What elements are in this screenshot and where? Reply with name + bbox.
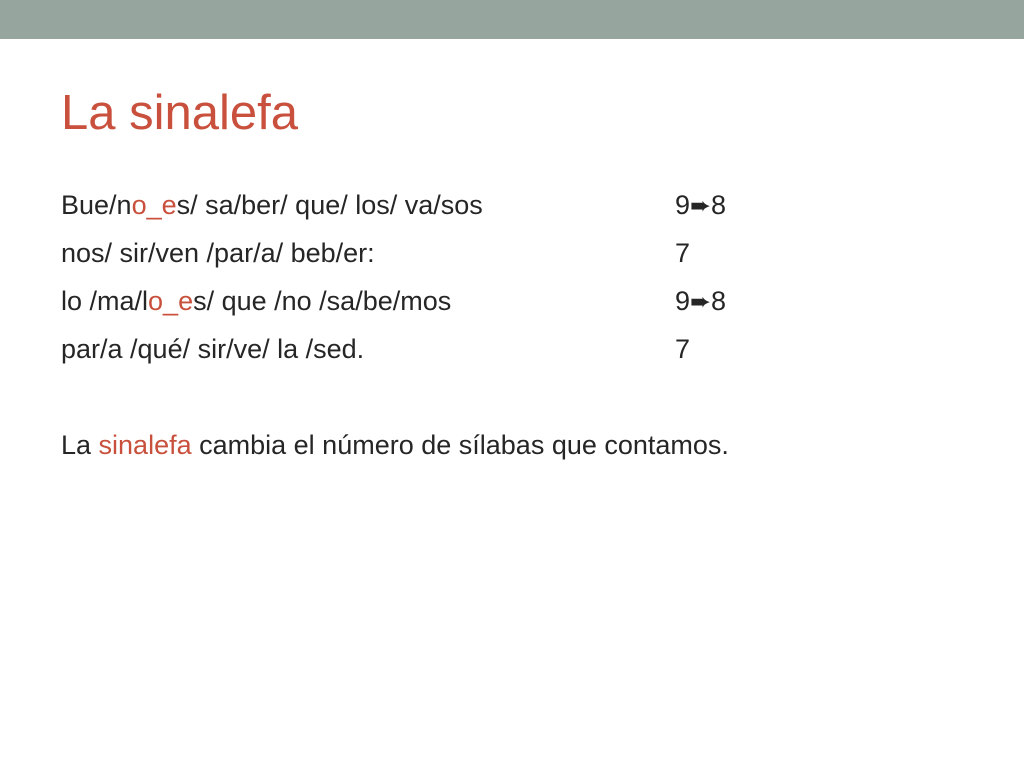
count-after: 8 [711, 190, 726, 220]
verse-segment-plain: Bue/n [61, 190, 132, 220]
count-after: 8 [711, 286, 726, 316]
slide: La sinalefa Bue/no_es/ sa/ber/ que/ los/… [0, 0, 1024, 768]
slide-body: Bue/no_es/ sa/ber/ que/ los/ va/sos 9➨8 … [61, 188, 961, 462]
verse-segment-highlight: o_e [132, 190, 177, 220]
verse-segment-plain: nos/ sir/ven /par/a/ beb/er: [61, 238, 375, 268]
summary-term-highlight: sinalefa [99, 430, 192, 460]
verse-text: par/a /qué/ sir/ve/ la /sed. [61, 332, 364, 366]
slide-top-accent-bar [0, 0, 1024, 39]
verse-line: par/a /qué/ sir/ve/ la /sed. 7 [61, 332, 961, 380]
count-before: 9 [675, 190, 690, 220]
syllable-count: 7 [675, 236, 690, 271]
page-title: La sinalefa [61, 84, 298, 142]
verse-text: Bue/no_es/ sa/ber/ que/ los/ va/sos [61, 188, 483, 222]
blank-line [61, 380, 961, 428]
verse-segment-plain: lo /ma/l [61, 286, 148, 316]
count-before: 9 [675, 286, 690, 316]
verse-text: nos/ sir/ven /par/a/ beb/er: [61, 236, 375, 270]
summary-prefix: La [61, 430, 99, 460]
verse-line: nos/ sir/ven /par/a/ beb/er: 7 [61, 236, 961, 284]
verse-segment-highlight: o_e [148, 286, 193, 316]
verse-text: lo /ma/lo_es/ que /no /sa/be/mos [61, 284, 451, 318]
verse-segment-plain: s/ que /no /sa/be/mos [193, 286, 451, 316]
verse-segment-plain: par/a /qué/ sir/ve/ la /sed. [61, 334, 364, 364]
count-before: 7 [675, 238, 690, 268]
count-before: 7 [675, 334, 690, 364]
verse-line: lo /ma/lo_es/ que /no /sa/be/mos 9➨8 [61, 284, 961, 332]
syllable-count: 9➨8 [675, 188, 726, 223]
arrow-right-icon: ➨ [690, 287, 711, 316]
syllable-count: 9➨8 [675, 284, 726, 319]
summary-suffix: cambia el número de sílabas que contamos… [192, 430, 729, 460]
syllable-count: 7 [675, 332, 690, 367]
arrow-right-icon: ➨ [690, 191, 711, 220]
verse-line: Bue/no_es/ sa/ber/ que/ los/ va/sos 9➨8 [61, 188, 961, 236]
summary-line: La sinalefa cambia el número de sílabas … [61, 428, 961, 462]
verse-segment-plain: s/ sa/ber/ que/ los/ va/sos [177, 190, 483, 220]
